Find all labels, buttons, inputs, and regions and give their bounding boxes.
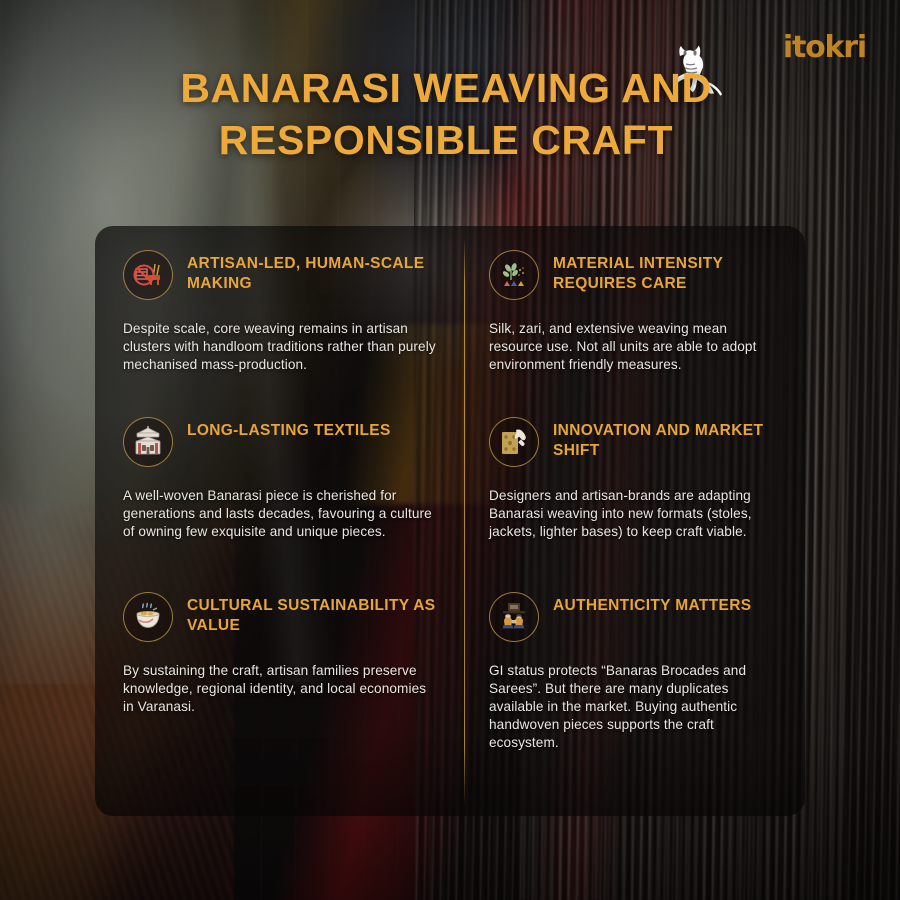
card-header: ARTISAN-LED, HUMAN-SCALE MAKING [123, 248, 439, 300]
card-header: MATERIAL INTENSITY REQUIRES CARE [489, 248, 783, 300]
card-title: INNOVATION AND MARKET SHIFT [553, 415, 783, 460]
card-cultural-sustainability: CULTURAL SUSTAINABILITY AS VALUE By sust… [95, 568, 465, 816]
content-panel: ARTISAN-LED, HUMAN-SCALE MAKING Despite … [95, 226, 805, 816]
card-body: Silk, zari, and extensive weaving mean r… [489, 320, 783, 374]
card-body: Designers and artisan-brands are adaptin… [489, 487, 783, 541]
card-body: By sustaining the craft, artisan familie… [123, 662, 439, 716]
cards-grid: ARTISAN-LED, HUMAN-SCALE MAKING Despite … [95, 226, 805, 816]
card-body: GI status protects “Banaras Brocades and… [489, 662, 783, 752]
card-header: LONG-LASTING TEXTILES [123, 415, 439, 467]
card-artisan-led: ARTISAN-LED, HUMAN-SCALE MAKING Despite … [95, 226, 465, 393]
no-power-loom-icon [123, 250, 173, 300]
seated-artisans-icon [489, 592, 539, 642]
card-body: Despite scale, core weaving remains in a… [123, 320, 439, 374]
card-header: AUTHENTICITY MATTERS [489, 590, 783, 642]
brand-wordmark[interactable]: itokri [783, 30, 866, 65]
card-title: ARTISAN-LED, HUMAN-SCALE MAKING [187, 248, 439, 293]
dye-plant-icon [489, 250, 539, 300]
card-title: LONG-LASTING TEXTILES [187, 415, 391, 441]
card-innovation-market-shift: INNOVATION AND MARKET SHIFT Designers an… [465, 393, 805, 568]
card-long-lasting-textiles: LONG-LASTING TEXTILES A well-woven Banar… [95, 393, 465, 568]
card-body: A well-woven Banarasi piece is cherished… [123, 487, 439, 541]
card-title: CULTURAL SUSTAINABILITY AS VALUE [187, 590, 439, 635]
card-authenticity-matters: AUTHENTICITY MATTERS GI status protects … [465, 568, 805, 816]
card-material-intensity: MATERIAL INTENSITY REQUIRES CARE Silk, z… [465, 226, 805, 393]
heritage-temple-icon [123, 417, 173, 467]
header: BANARASI WEAVING AND RESPONSIBLE CRAFT [0, 62, 900, 167]
card-header: INNOVATION AND MARKET SHIFT [489, 415, 783, 467]
card-title: AUTHENTICITY MATTERS [553, 590, 751, 616]
steaming-dye-pot-icon [123, 592, 173, 642]
page-title: BANARASI WEAVING AND RESPONSIBLE CRAFT [96, 62, 796, 167]
infographic-poster: itokri BANARASI WEAVING AND RESPONSIBLE … [0, 0, 900, 900]
card-header: CULTURAL SUSTAINABILITY AS VALUE [123, 590, 439, 642]
card-title: MATERIAL INTENSITY REQUIRES CARE [553, 248, 783, 293]
hand-holding-fabric-icon [489, 417, 539, 467]
